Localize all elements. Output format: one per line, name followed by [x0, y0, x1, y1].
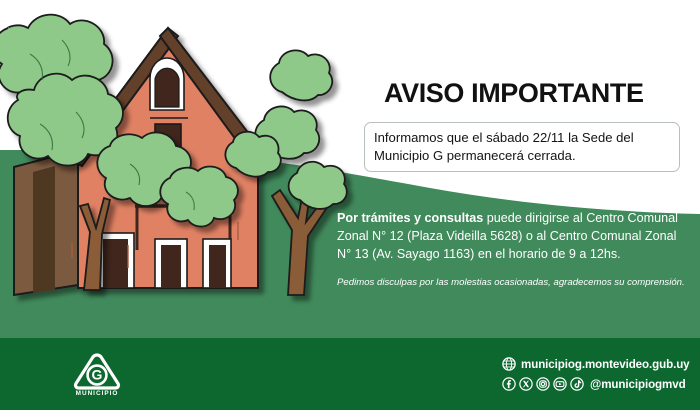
globe-icon	[502, 357, 516, 371]
tiktok-icon[interactable]	[570, 377, 584, 391]
website-row[interactable]: municipiog.montevideo.gub.uy	[502, 355, 698, 373]
body-block: Por trámites y consultas puede dirigirse…	[337, 210, 689, 289]
x-twitter-icon[interactable]	[519, 377, 533, 391]
notice-text: Informamos que el sábado 22/11 la Sede d…	[374, 129, 670, 164]
page-title: AVISO IMPORTANTE	[384, 80, 684, 107]
website-text: municipiog.montevideo.gub.uy	[521, 358, 690, 371]
logo-caption: MUNICIPIO	[76, 390, 119, 396]
instagram-icon[interactable]	[536, 377, 550, 391]
youtube-icon[interactable]	[553, 377, 567, 391]
logo-letter: G	[92, 367, 103, 383]
social-handle: @municipiogmvd	[590, 378, 686, 391]
body-lead: Por trámites y consultas	[337, 211, 483, 225]
facebook-icon[interactable]	[502, 377, 516, 391]
poster-canvas: AVISO IMPORTANTE Informamos que el sábad…	[0, 0, 700, 410]
municipio-logo: G MUNICIPIO	[68, 352, 126, 396]
body-paragraph: Por trámites y consultas puede dirigirse…	[337, 210, 689, 264]
house-illustration	[0, 0, 360, 345]
notice-box: Informamos que el sábado 22/11 la Sede d…	[364, 122, 680, 172]
contact-block: municipiog.montevideo.gub.uy	[502, 355, 698, 393]
social-row[interactable]: @municipiogmvd	[502, 375, 698, 393]
apology-text: Pedimos disculpas por las molestias ocas…	[337, 277, 689, 289]
